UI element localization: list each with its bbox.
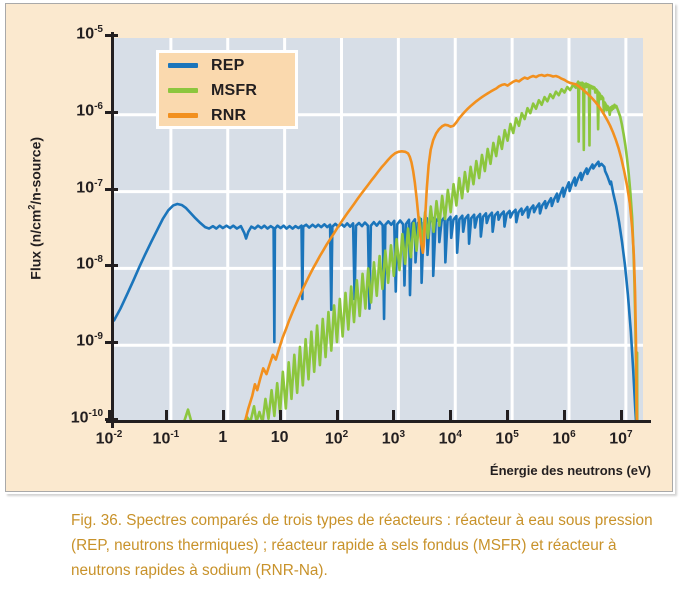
x-axis-line [106,420,651,423]
y-tick-label-5: 10-10 [6,408,103,427]
y-tick-2 [105,188,118,191]
legend-swatch-msfr [168,88,198,93]
x-tick-2 [222,410,225,423]
x-tick-0 [108,410,111,423]
y-tick-0 [105,34,118,37]
x-tick-6 [449,410,452,423]
legend-label-msfr: MSFR [211,83,257,99]
figure-panel: 10-5 10-6 10-7 10-8 10-9 10-10 10-210-11… [5,3,673,492]
legend-swatch-rep [168,63,198,68]
y-tick-1 [105,111,118,114]
legend-item-rnr: RNR [159,103,295,128]
y-tick-5 [105,418,118,421]
legend-swatch-rnr [168,113,198,118]
y-tick-label-0: 10-5 [6,24,103,43]
y-tick-label-4: 10-9 [6,331,103,350]
x-tick-label-9: 107 [609,429,632,448]
figure-caption: Fig. 36. Spectres comparés de trois type… [71,508,671,583]
legend-label-rep: REP [211,58,245,74]
x-tick-label-4: 102 [325,429,348,448]
legend-label-rnr: RNR [211,108,246,124]
x-tick-3 [279,410,282,423]
x-tick-label-6: 104 [439,429,462,448]
figure-root: 10-5 10-6 10-7 10-8 10-9 10-10 10-210-11… [0,0,681,613]
legend-item-msfr: MSFR [159,78,295,103]
x-tick-label-5: 103 [382,429,405,448]
x-tick-label-0: 10-2 [96,429,123,448]
y-tick-label-3: 10-8 [6,254,103,273]
x-tick-4 [336,410,339,423]
x-axis-title: Énergie des neutrons (eV) [6,463,651,478]
y-tick-label-2: 10-7 [6,178,103,197]
y-axis-title: Flux (n/cm2/n-source) [27,93,44,323]
x-tick-label-8: 106 [552,429,575,448]
x-tick-9 [620,410,623,423]
y-tick-3 [105,264,118,267]
x-tick-8 [563,410,566,423]
x-tick-label-7: 105 [495,429,518,448]
x-tick-label-1: 10-1 [153,429,180,448]
legend-item-rep: REP [159,53,295,78]
y-axis-line [111,32,114,428]
y-tick-label-1: 10-6 [6,101,103,120]
x-tick-label-2: 1 [218,429,227,447]
x-tick-label-3: 10 [271,429,289,447]
x-tick-7 [506,410,509,423]
x-tick-5 [392,410,395,423]
x-tick-1 [165,410,168,423]
y-tick-4 [105,341,118,344]
chart-legend: REP MSFR RNR [156,50,298,129]
